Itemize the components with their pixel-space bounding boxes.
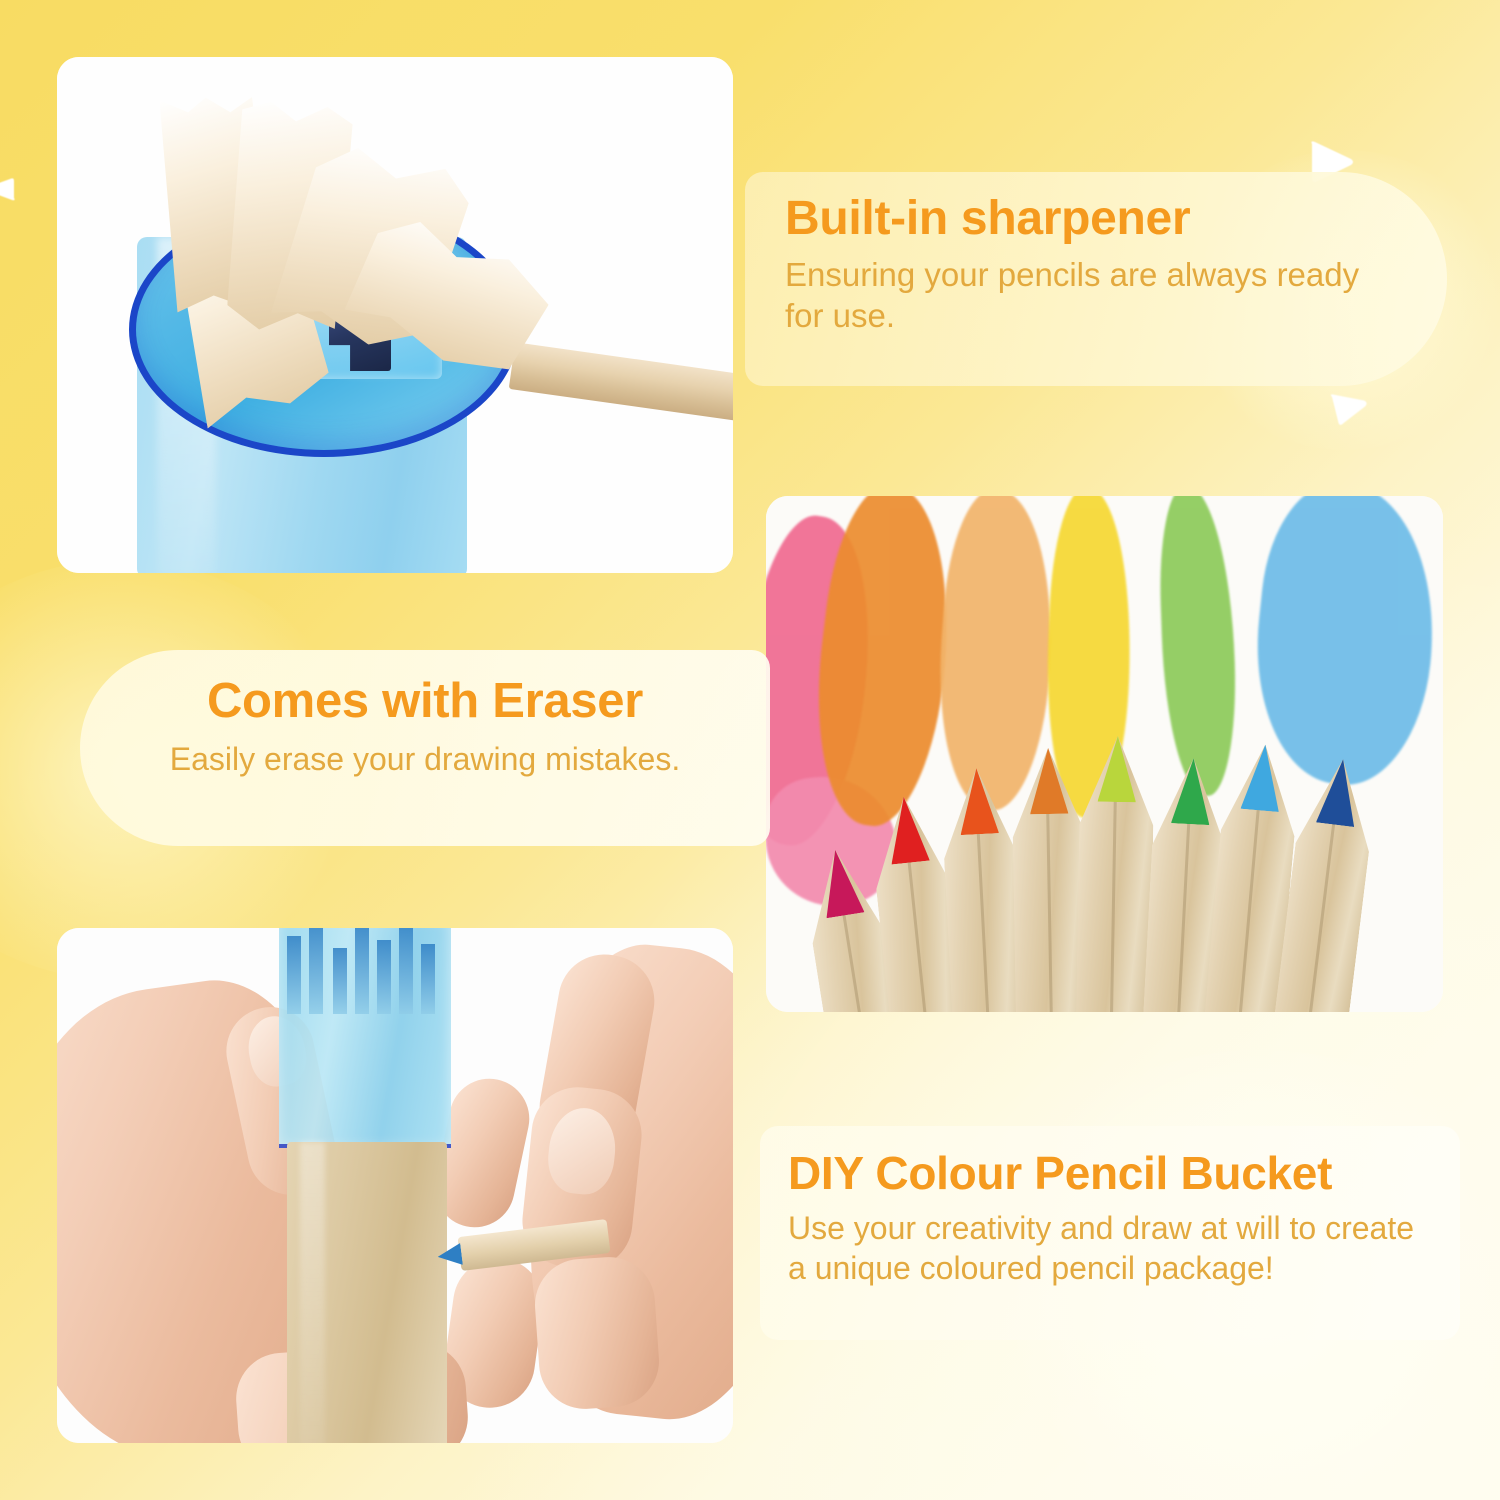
- tube-photo-scene: [57, 928, 733, 1443]
- feature-text-diy-pencil-bucket: DIY Colour Pencil Bucket Use your creati…: [760, 1126, 1460, 1340]
- feature-text-built-in-sharpener: Built-in sharpener Ensuring your pencils…: [745, 172, 1447, 386]
- pencil-tip: [1171, 757, 1213, 825]
- feature-subline: Ensuring your pencils are always ready f…: [785, 254, 1391, 337]
- tube-pencil: [399, 928, 413, 1014]
- infographic-page: Built-in sharpener Ensuring your pencils…: [0, 0, 1500, 1500]
- triangle-left-edge-icon: [0, 176, 18, 202]
- feature-headline: DIY Colour Pencil Bucket: [788, 1150, 1430, 1198]
- right-finger: [532, 1254, 662, 1412]
- feature-subline: Use your creativity and draw at will to …: [788, 1208, 1430, 1289]
- pencil-tube-body: [287, 1142, 447, 1443]
- tube-pencil: [309, 928, 323, 1014]
- tube-pencil: [421, 944, 435, 1014]
- pencils-inside-tube: [279, 928, 451, 1014]
- pencil-tip: [957, 767, 999, 835]
- pencil-tip: [1097, 736, 1137, 803]
- tube-pencil: [287, 936, 301, 1014]
- feature-subline: Easily erase your drawing mistakes.: [110, 739, 740, 779]
- feature-headline: Comes with Eraser: [110, 676, 740, 727]
- feature-photo-built-in-sharpener: [57, 57, 733, 573]
- feature-text-comes-with-eraser: Comes with Eraser Easily erase your draw…: [80, 650, 770, 846]
- pencil-tube-cap: [279, 928, 451, 1148]
- tube-pencil: [377, 940, 391, 1014]
- sharpener-photo-scene: [57, 57, 733, 573]
- feature-headline: Built-in sharpener: [785, 194, 1391, 244]
- pencils-photo-scene: [766, 496, 1443, 1012]
- pencil: [1075, 735, 1155, 1012]
- tube-pencil: [333, 948, 347, 1014]
- pencil-tip: [1029, 748, 1069, 815]
- tube-pencil: [355, 928, 369, 1014]
- feature-photo-diy-pencil-bucket: [57, 928, 733, 1443]
- triangle-mid-right-icon: [1326, 384, 1374, 431]
- feature-photo-coloured-pencils: [766, 496, 1443, 1012]
